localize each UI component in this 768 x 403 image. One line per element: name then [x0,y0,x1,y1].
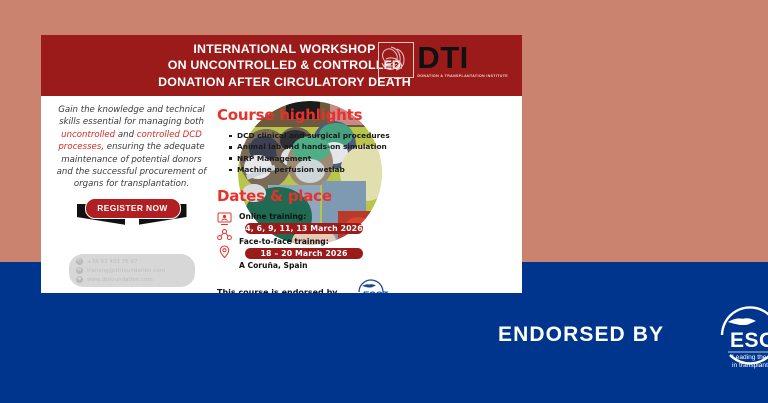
card-header: INTERNATIONAL WORKSHOP ON UNCONTROLLED &… [41,35,522,96]
svg-text:ESOT: ESOT [363,290,388,293]
svg-text:in transplantation: in transplantation [732,362,768,369]
contact-row-email[interactable]: ✉ training@dtifoundation.com [76,267,188,275]
dti-subtitle: DONATION & TRANSPLANTATION INSTITUTE [417,74,508,78]
contact-row-phone[interactable]: ✆ +34 93 403 76 87 [76,258,188,266]
online-training-label: Online training: [239,211,392,222]
intro-paragraph: Gain the knowledge and technical skills … [49,104,214,191]
dti-mark-icon [378,42,414,78]
title-line-2: ON UNCONTROLLED & CONTROLLED [158,57,411,74]
contact-phone-text: +34 93 403 76 87 [87,259,138,265]
location-pin-icon [217,245,232,259]
dti-logo: DTI DONATION & TRANSPLANTATION INSTITUTE [378,42,508,78]
dti-wordmark: DTI DONATION & TRANSPLANTATION INSTITUTE [417,42,508,78]
svg-text:ESOT: ESOT [730,329,768,352]
place-label: A Coruña, Spain [239,261,392,270]
endorsed-by-card-label: This course is endorsed by [217,288,338,293]
highlight-item: Machine perfusion wetlab [229,164,392,175]
card-body: Gain the knowledge and technical skills … [41,96,522,293]
register-now-block[interactable]: REGISTER NOW [73,198,191,250]
workshop-title: INTERNATIONAL WORKSHOP ON UNCONTROLLED &… [152,41,411,91]
dti-letters: DTI [417,42,508,73]
down-arrow-icon [121,216,143,246]
phone-icon: ✆ [76,258,84,266]
dates-block: Online training: 4, 6, 9, 11, 13 March 2… [217,211,392,271]
contact-info-pill: ✆ +34 93 403 76 87 ✉ training@dtifoundat… [69,254,195,288]
endorsed-by-block: ENDORSED BY ESOT ® Leading the way in tr… [498,300,768,370]
svg-text:Leading the way: Leading the way [732,354,768,361]
endorsed-by-label: ENDORSED BY [498,323,664,347]
group-people-icon [217,229,232,242]
highlight-item: Animal lab and hands-on simulation [229,141,392,152]
intro-highlight-1: uncontrolled [61,130,115,140]
course-highlights-list: DCD clinical and surgical procedures Ani… [229,130,392,176]
contact-website-text: www.dtifoundation.com [87,277,153,283]
middle-column: Course highlights DCD clinical and surgi… [217,106,392,293]
esot-logo-large: ESOT ® Leading the way in transplantatio… [678,300,768,370]
course-highlights-title: Course highlights [217,106,392,124]
online-training-monitor-icon [217,212,232,226]
card-endorsement-line: This course is endorsed by ESOT Leading … [217,277,392,293]
highlight-item: DCD clinical and surgical procedures [229,130,392,141]
dates-icon-column [217,211,234,271]
contact-row-website[interactable]: ⊕ www.dtifoundation.com [76,276,188,284]
online-training-dates-badge: 4, 6, 9, 11, 13 March 2026 [245,223,363,234]
esot-logo-large-svg: ESOT ® Leading the way in transplantatio… [678,300,768,370]
dates-text-column: Online training: 4, 6, 9, 11, 13 March 2… [239,211,392,271]
flyer-card: INTERNATIONAL WORKSHOP ON UNCONTROLLED &… [41,35,522,293]
title-line-1: INTERNATIONAL WORKSHOP [158,41,411,58]
highlight-item: NRP Management [229,153,392,164]
left-column: Gain the knowledge and technical skills … [49,104,214,289]
globe-icon: ⊕ [76,276,84,284]
face-to-face-dates-badge: 18 – 20 March 2026 [245,248,363,259]
esot-logo-small: ESOT Leading the way in transplantation [342,277,388,293]
email-icon: ✉ [76,267,84,275]
dates-place-title: Dates & place [217,187,392,205]
intro-part-2: and [115,130,137,140]
title-line-3: DONATION AFTER CIRCULATORY DEATH [158,74,411,91]
face-to-face-label: Face-to-face trainng: [239,236,392,247]
contact-email-text: training@dtifoundation.com [87,268,165,274]
intro-part-1: Gain the knowledge and technical skills … [58,105,205,127]
